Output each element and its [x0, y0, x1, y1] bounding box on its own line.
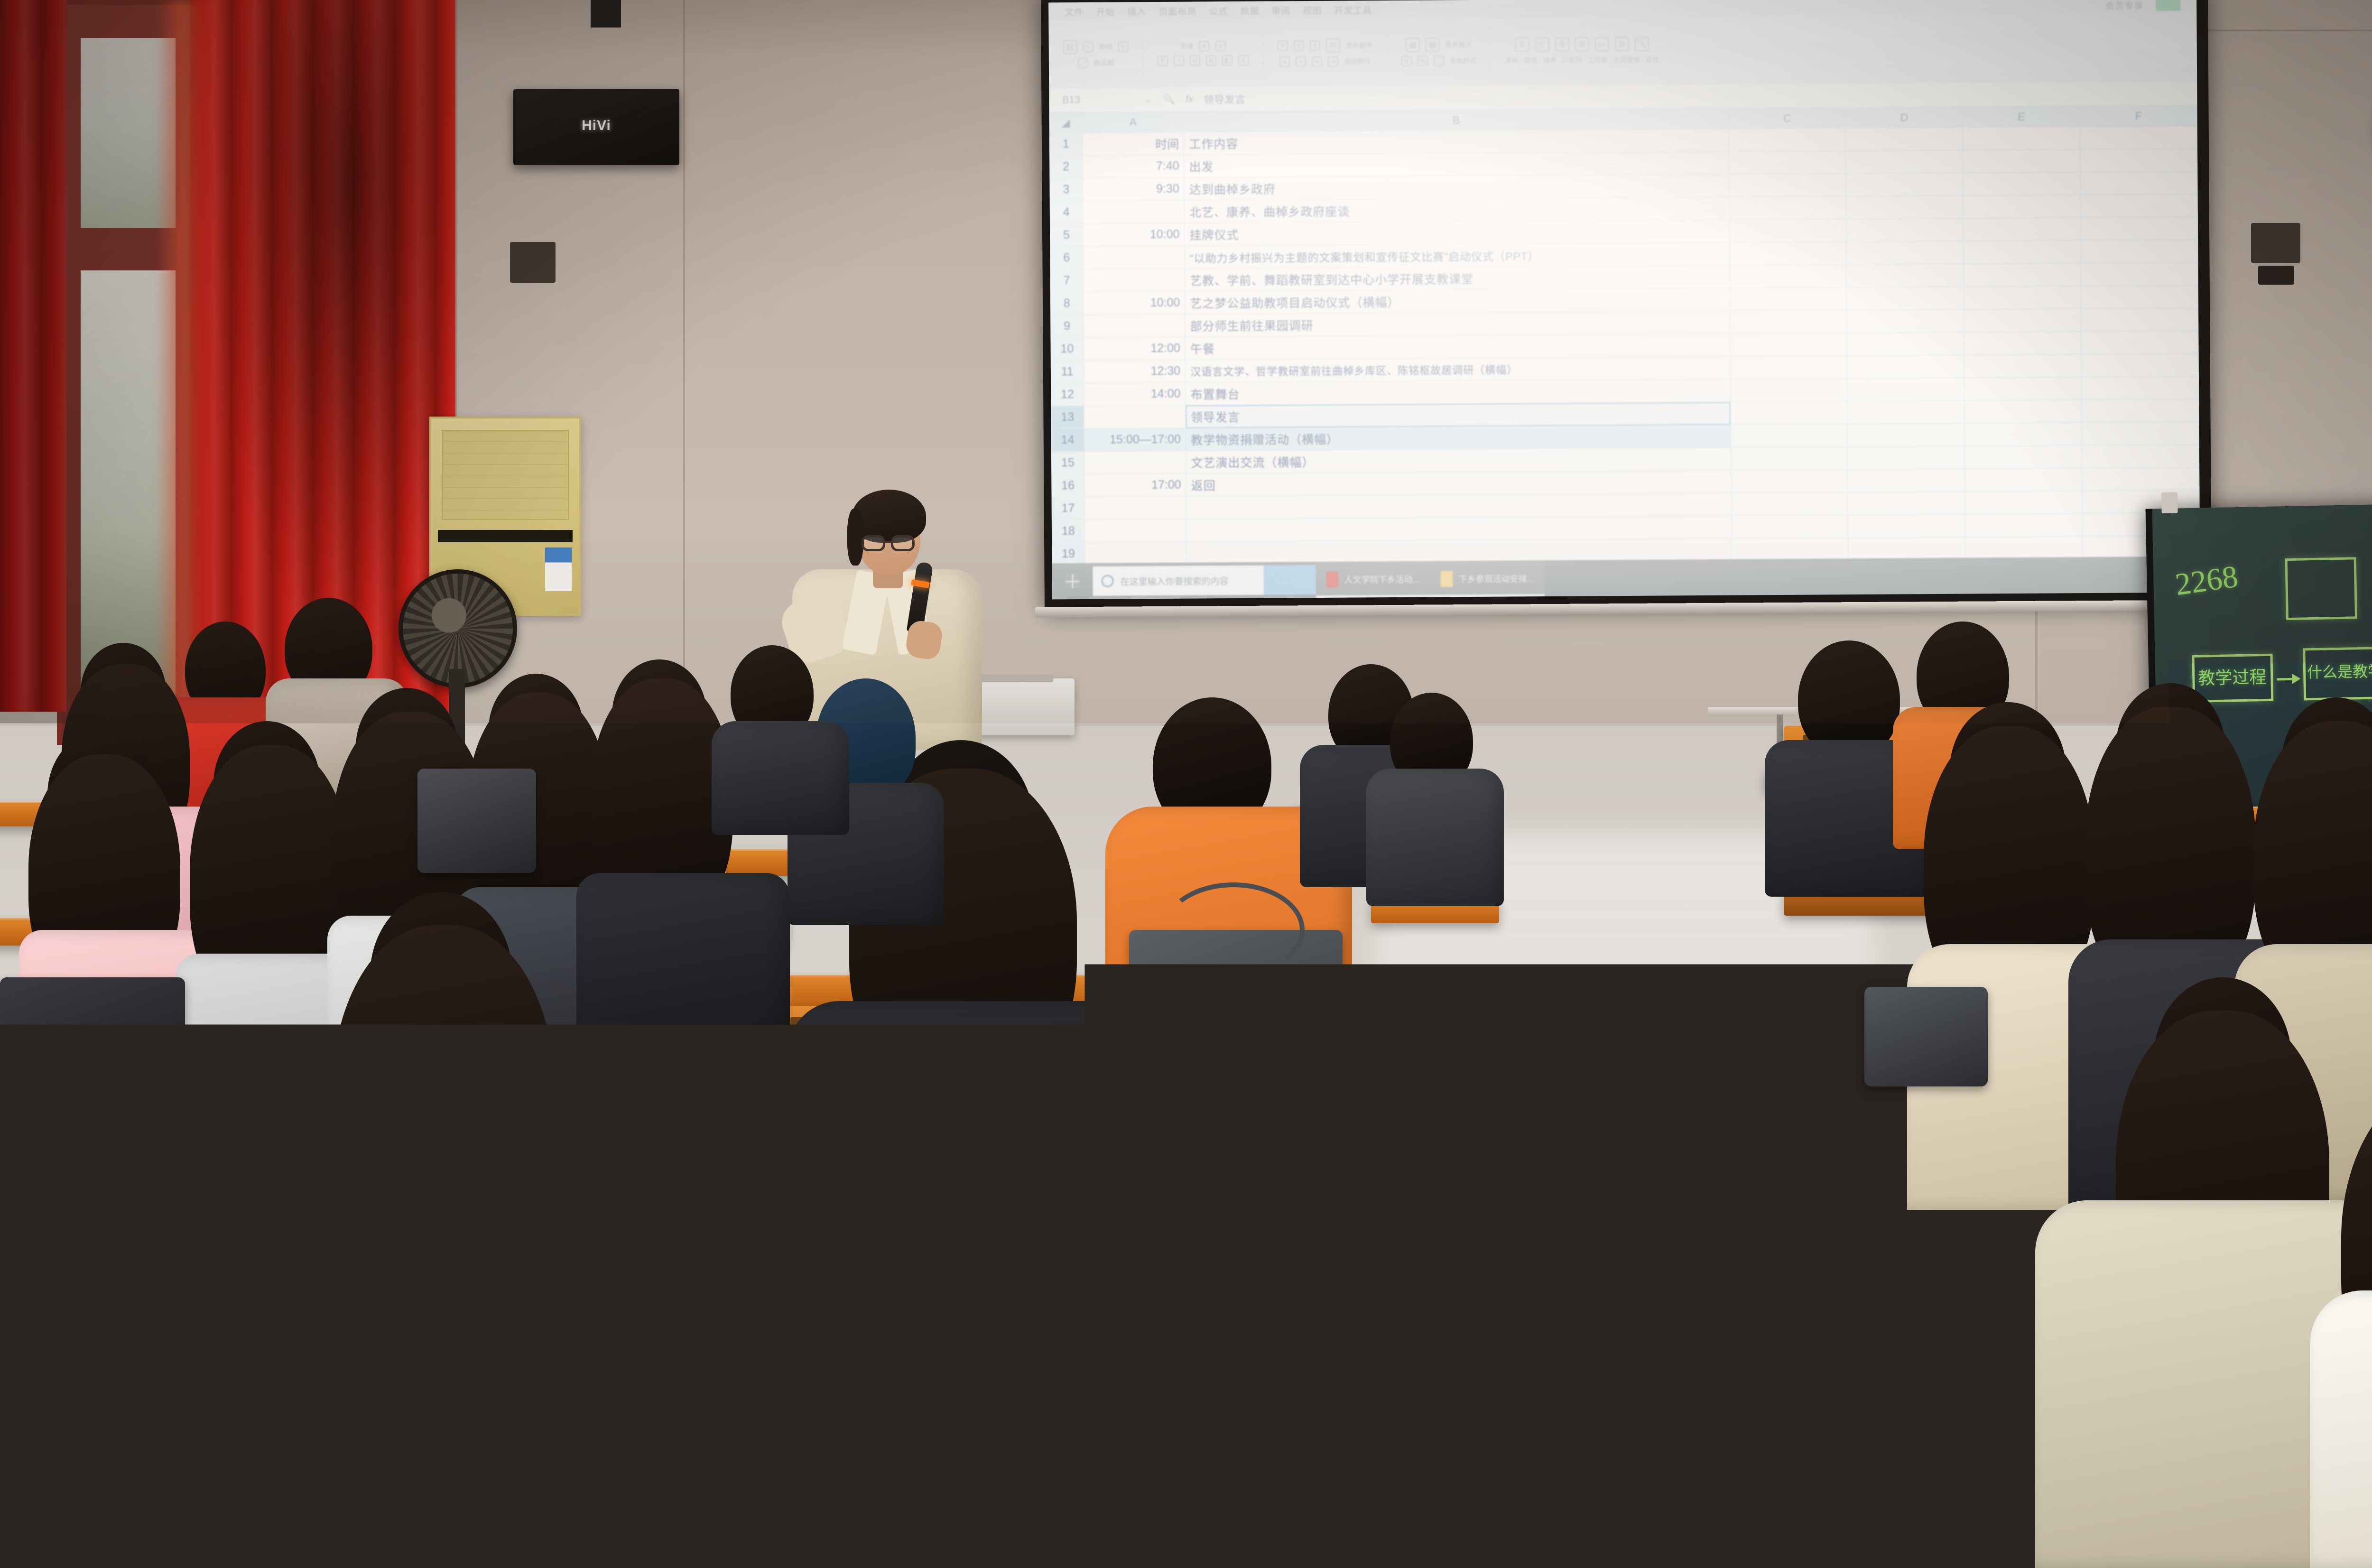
- cell-d[interactable]: [1846, 173, 1963, 196]
- ribbon-divider: [1262, 30, 1263, 75]
- cell-f[interactable]: [2082, 376, 2199, 400]
- cell-d[interactable]: [1846, 241, 1964, 265]
- italic-icon[interactable]: I: [1174, 55, 1184, 65]
- cell-e[interactable]: [1965, 445, 2082, 469]
- worksheet-icon[interactable]: ▭: [1595, 37, 1609, 51]
- chevron-down-icon[interactable]: ⌄: [1144, 93, 1152, 105]
- curtain-left: [0, 0, 66, 712]
- eyeglasses-icon: [891, 535, 915, 551]
- merge-center-icon[interactable]: ⊟: [1326, 38, 1340, 52]
- curtain-light-edge: [157, 0, 209, 731]
- find-label: 查找: [1646, 55, 1659, 64]
- cell-e[interactable]: [1964, 263, 2081, 287]
- cut-icon[interactable]: ✂: [1083, 41, 1093, 52]
- cell-f[interactable]: [2082, 399, 2199, 423]
- cell-d[interactable]: [1846, 218, 1964, 242]
- cell-c[interactable]: [1731, 492, 1848, 516]
- alignment-group[interactable]: ≡ ≡ ≡ ⊟ 合并居中 ≡ ≡ ≡ ⇥ 自动换行: [1278, 38, 1372, 67]
- cell-e[interactable]: [1965, 514, 2083, 538]
- font-color-icon[interactable]: A: [1238, 55, 1249, 65]
- cell-b[interactable]: 部分师生前往果园调研: [1185, 311, 1730, 337]
- ribbon-tab-view[interactable]: 视图: [1303, 3, 1322, 16]
- cell-c[interactable]: [1729, 242, 1846, 266]
- cell-c[interactable]: [1730, 310, 1847, 334]
- cell-a[interactable]: 时间: [1082, 132, 1184, 155]
- filter-icon[interactable]: ▽: [1535, 37, 1549, 51]
- fill-color-icon[interactable]: ◧: [1222, 55, 1232, 65]
- ribbon-divider: [1490, 28, 1491, 74]
- border-icon[interactable]: ⊞: [1206, 55, 1216, 65]
- cell-e[interactable]: [1964, 332, 2081, 355]
- taskbar-item-1[interactable]: 人文学院下乡活动...: [1316, 561, 1430, 598]
- cell-d[interactable]: [1848, 537, 1965, 561]
- cell-a[interactable]: [1084, 405, 1186, 428]
- cell-e[interactable]: [1965, 537, 2083, 560]
- cell-a[interactable]: 17:00: [1084, 473, 1186, 497]
- cell-f[interactable]: [2081, 308, 2198, 332]
- merge-center-label: 合并居中: [1346, 40, 1372, 50]
- sort-label: 排序: [1543, 55, 1557, 65]
- cell-a[interactable]: 10:00: [1083, 223, 1185, 246]
- wall-bracket: [2258, 266, 2294, 285]
- cell-b[interactable]: 出发: [1184, 151, 1729, 177]
- freeze-panes-label: 冻结窗格: [1613, 55, 1640, 64]
- row-header[interactable]: 10: [1051, 337, 1084, 360]
- cell-c[interactable]: [1731, 515, 1848, 539]
- floor-tile-line: [1423, 1034, 1841, 1036]
- cell-e[interactable]: [1963, 172, 2080, 196]
- cell-a[interactable]: [1083, 200, 1185, 223]
- floor-tile-line: [1376, 1376, 1893, 1377]
- cell-d[interactable]: [1848, 492, 1965, 515]
- cell-a[interactable]: [1084, 542, 1186, 565]
- row-header[interactable]: 14: [1051, 428, 1084, 451]
- fx-icon[interactable]: fx: [1186, 93, 1193, 105]
- row-header[interactable]: 18: [1052, 520, 1084, 542]
- chalk-arrow-icon: [2277, 678, 2298, 681]
- cell-e[interactable]: [1964, 286, 2081, 310]
- ribbon-divider: [1386, 29, 1387, 75]
- cell-b-selected[interactable]: 领导发言: [1186, 402, 1731, 428]
- wps-document-icon: [1326, 572, 1338, 588]
- name-box[interactable]: B13: [1062, 94, 1133, 106]
- row-header[interactable]: 17: [1052, 497, 1084, 520]
- align-bottom-icon[interactable]: ≡: [1310, 40, 1320, 50]
- speaker-brand-label: HiVi: [582, 118, 611, 134]
- row-header[interactable]: 8: [1050, 292, 1083, 315]
- worksheet-label: 工作表: [1588, 55, 1608, 65]
- column-header-a[interactable]: A: [1082, 112, 1184, 132]
- column-header-b[interactable]: B: [1184, 109, 1729, 132]
- row-header[interactable]: 6: [1050, 246, 1083, 269]
- cell-a[interactable]: [1084, 519, 1186, 542]
- cell-c[interactable]: [1730, 401, 1847, 425]
- cell-c[interactable]: [1731, 424, 1848, 448]
- autosum-icon[interactable]: Σ: [1515, 37, 1529, 52]
- cell-a[interactable]: 14:00: [1084, 382, 1186, 406]
- cell-d[interactable]: [1847, 378, 1964, 401]
- editing-group[interactable]: Σ ▽ ⇅ ⊞ ▭ ⊞ 🔍 求和 筛选 排序 行和列: [1505, 37, 1659, 65]
- cell-c[interactable]: [1730, 356, 1847, 380]
- cell-a[interactable]: [1084, 496, 1186, 520]
- cell-f[interactable]: [2081, 285, 2198, 309]
- chalk-box-diagram: [2285, 557, 2357, 620]
- cell-c[interactable]: [1731, 538, 1848, 562]
- select-all-corner[interactable]: ◢: [1049, 113, 1082, 133]
- conditional-format-label: 条件格式: [1445, 39, 1472, 49]
- cell-b[interactable]: 北艺、康养、曲棹乡政府座谈: [1185, 197, 1730, 223]
- cell-e[interactable]: [1964, 377, 2082, 401]
- cell-d[interactable]: [1846, 150, 1963, 174]
- cell-b[interactable]: 工作内容: [1184, 129, 1729, 155]
- cell-e[interactable]: [1963, 127, 2080, 150]
- ribbon-tab-review[interactable]: 审阅: [1271, 4, 1290, 17]
- eyeglasses-icon: [862, 535, 885, 551]
- column-header-c[interactable]: C: [1729, 108, 1846, 129]
- ribbon-spacer: [1384, 5, 2093, 9]
- cell-d[interactable]: [1847, 309, 1964, 333]
- row-header[interactable]: 13: [1051, 406, 1084, 428]
- conditional-format-icon[interactable]: ▩: [1426, 37, 1440, 52]
- spreadsheet-app[interactable]: 文件 开始 插入 页面布局 公式 数据 审阅 视图 开发工具 会员专享: [1048, 0, 2200, 599]
- ribbon-tab-formulas[interactable]: 公式: [1209, 4, 1228, 17]
- presenter-hair-side: [847, 509, 863, 566]
- cell-f[interactable]: [2081, 353, 2198, 377]
- projection-screen-bezel: 文件 开始 插入 页面布局 公式 数据 审阅 视图 开发工具 会员专享: [1041, 0, 2212, 613]
- cell-b[interactable]: “以助力乡村振兴为主题的文案策划和宣传征文比赛”启动仪式（PPT）: [1185, 242, 1730, 269]
- find-icon[interactable]: 🔍: [1635, 37, 1649, 51]
- cell-d[interactable]: [1847, 287, 1964, 310]
- wps-spreadsheet-icon: [1440, 571, 1453, 587]
- number-group[interactable]: ▦ ▩ 条件格式 ¥ % , 表格样式: [1401, 37, 1476, 66]
- cell-d[interactable]: [1848, 423, 1965, 447]
- chalk-note-process: 教学过程: [2198, 663, 2267, 689]
- cell-a[interactable]: 7:40: [1082, 155, 1184, 178]
- cell-e[interactable]: [1965, 468, 2082, 492]
- column-header-f[interactable]: F: [2080, 106, 2197, 127]
- formula-input[interactable]: 领导发言: [1204, 92, 1245, 106]
- cell-c[interactable]: [1729, 196, 1846, 220]
- search-placeholder-text: 在这里输入你要搜索的内容: [1121, 574, 1229, 587]
- row-header[interactable]: 11: [1051, 360, 1084, 383]
- desk-leg: [1248, 1449, 1260, 1568]
- desk-leg: [38, 1421, 49, 1568]
- wrap-text-label: 自动换行: [1344, 56, 1371, 66]
- insert-function-search-icon[interactable]: 🔍: [1163, 93, 1175, 105]
- cell-b[interactable]: 教学物资捐赠活动（横幅）: [1186, 425, 1731, 451]
- taskbar-item-label: 人文学院下乡活动...: [1344, 573, 1419, 586]
- row-header[interactable]: 2: [1050, 155, 1083, 178]
- cabinet-sticker: [545, 547, 572, 591]
- rows-columns-icon[interactable]: ⊞: [1575, 37, 1589, 51]
- cell-b[interactable]: 文艺演出交流（横幅）: [1186, 447, 1731, 473]
- chalk-note-question: 什么是教学过程: [2307, 659, 2372, 682]
- column-header-e[interactable]: E: [1963, 107, 2080, 128]
- rows-columns-label: 行和列: [1562, 55, 1582, 65]
- table-style-label: 表格样式: [1450, 56, 1476, 65]
- start-button[interactable]: [1052, 563, 1093, 600]
- cell-b[interactable]: 汉语言文学、哲学教研室前往曲棹乡库区、陈铭枢故居调研（横幅）: [1186, 356, 1731, 382]
- cell-e[interactable]: [1964, 354, 2081, 378]
- wall-bracket: [2251, 223, 2300, 263]
- cell-b[interactable]: [1186, 516, 1732, 542]
- row-header[interactable]: 5: [1050, 223, 1083, 246]
- row-header[interactable]: 3: [1050, 178, 1083, 201]
- cell-f[interactable]: [2082, 422, 2199, 445]
- cell-e[interactable]: [1964, 400, 2082, 424]
- spreadsheet-grid[interactable]: ◢ A B C D E F 1时间工作内容 27:40出发: [1049, 106, 2200, 589]
- cell-e[interactable]: [1964, 218, 2081, 241]
- cell-b[interactable]: [1186, 493, 1731, 519]
- cell-d[interactable]: [1846, 264, 1964, 288]
- cell-c[interactable]: [1729, 219, 1846, 243]
- column-header-d[interactable]: D: [1845, 107, 1963, 128]
- cell-c[interactable]: [1730, 265, 1847, 288]
- cell-d[interactable]: [1847, 355, 1964, 379]
- underline-icon[interactable]: U: [1190, 55, 1200, 65]
- align-center-icon[interactable]: ≡: [1296, 56, 1306, 67]
- clipboard-group[interactable]: ▤ ✂ 剪切 ⧉ 🖌 格式刷: [1063, 39, 1129, 68]
- bag: [1945, 1234, 2087, 1343]
- bold-icon[interactable]: B: [1158, 55, 1168, 65]
- hivi-speaker-left: HiVi: [513, 89, 679, 165]
- number-format-icon[interactable]: ▦: [1406, 37, 1420, 52]
- row-header[interactable]: 4: [1050, 201, 1083, 223]
- windows-taskbar[interactable]: 在这里输入你要搜索的内容 人文学院下乡活动... 下乡参观活动安排...: [1052, 557, 2200, 600]
- taskbar-item-label: 下乡参观活动安排...: [1459, 572, 1534, 585]
- cell-d[interactable]: [1848, 446, 1965, 470]
- cell-b[interactable]: 达到曲棹乡政府: [1184, 174, 1729, 200]
- row-header[interactable]: 16: [1052, 474, 1084, 497]
- cell-a[interactable]: [1084, 451, 1186, 474]
- floor-tile-line: [1404, 1196, 1869, 1197]
- ribbon-divider: [1143, 31, 1144, 76]
- cell-b[interactable]: 艺教、学前、舞蹈教研室到达中心小学开展支教课堂: [1185, 265, 1730, 291]
- filter-label: 筛选: [1524, 56, 1538, 65]
- cortana-button[interactable]: [1263, 565, 1316, 595]
- row-header[interactable]: 1: [1049, 133, 1082, 156]
- ribbon-tab-home[interactable]: 开始: [1096, 5, 1115, 18]
- ribbon-tab-file[interactable]: 文件: [1065, 5, 1084, 18]
- cell-c[interactable]: [1729, 174, 1846, 197]
- cell-f[interactable]: [2081, 331, 2198, 354]
- cell-c[interactable]: [1729, 128, 1846, 152]
- cell-b[interactable]: 布置舞台: [1186, 379, 1731, 405]
- cell-f[interactable]: [2081, 217, 2198, 241]
- cell-c[interactable]: [1730, 288, 1847, 311]
- ribbon-tab-data[interactable]: 数据: [1240, 4, 1259, 17]
- cell-f[interactable]: [2082, 445, 2199, 468]
- windows-logo-icon: [1065, 574, 1079, 588]
- ribbon-tab-insert[interactable]: 插入: [1127, 5, 1146, 18]
- row-header[interactable]: 9: [1051, 315, 1084, 337]
- cell-a[interactable]: [1083, 246, 1185, 269]
- wall-seam: [683, 0, 685, 707]
- cell-f[interactable]: [2080, 171, 2197, 195]
- search-icon: [1102, 575, 1114, 587]
- cut-label: 剪切: [1099, 42, 1112, 51]
- projection-screen[interactable]: 文件 开始 插入 页面布局 公式 数据 审阅 视图 开发工具 会员专享: [1048, 0, 2200, 599]
- currency-icon[interactable]: ¥: [1401, 56, 1412, 66]
- cell-f[interactable]: [2080, 194, 2197, 218]
- cell-a[interactable]: 10:00: [1083, 291, 1185, 315]
- cell-e[interactable]: [1963, 149, 2080, 173]
- cell-a[interactable]: 12:00: [1084, 337, 1186, 360]
- cell-a[interactable]: [1083, 314, 1185, 337]
- taskbar-item-2[interactable]: 下乡参观活动安排...: [1430, 560, 1544, 597]
- cell-a[interactable]: [1083, 269, 1185, 292]
- wall-bracket: [510, 242, 556, 283]
- copy-icon[interactable]: ⧉: [1118, 41, 1129, 52]
- ribbon-tab-page-layout[interactable]: 页面布局: [1158, 4, 1196, 17]
- cell-d[interactable]: [1848, 514, 1965, 538]
- row-header[interactable]: 7: [1050, 269, 1083, 292]
- cell-d[interactable]: [1847, 400, 1964, 424]
- cell-b[interactable]: 返回: [1186, 470, 1731, 496]
- indent-icon[interactable]: ⇥: [1328, 56, 1338, 66]
- freeze-panes-icon[interactable]: ⊞: [1615, 37, 1629, 51]
- cell-d[interactable]: [1846, 195, 1964, 219]
- cell-c[interactable]: [1729, 151, 1846, 175]
- bag: [1864, 987, 1988, 1086]
- ribbon-tab-member[interactable]: 会员专享: [2105, 0, 2143, 11]
- row-header[interactable]: 15: [1051, 451, 1084, 474]
- cabinet-slot: [438, 530, 573, 542]
- cell-c[interactable]: [1730, 333, 1847, 357]
- cell-b[interactable]: 午餐: [1185, 334, 1730, 360]
- align-right-icon[interactable]: ≡: [1312, 56, 1322, 66]
- floor-reflection: [1376, 835, 1874, 1568]
- chalk-note-number: 2268: [2173, 558, 2240, 603]
- cell-d[interactable]: [1848, 469, 1965, 492]
- cell-e[interactable]: [1964, 423, 2082, 446]
- row-header[interactable]: 19: [1052, 542, 1085, 565]
- taskbar-search-input[interactable]: 在这里输入你要搜索的内容: [1093, 566, 1263, 596]
- board-clip: [2161, 492, 2178, 513]
- cell-c[interactable]: [1731, 447, 1848, 471]
- cell-a[interactable]: 15:00—17:00: [1084, 428, 1186, 451]
- autosum-label: 求和: [1505, 56, 1519, 65]
- align-top-icon[interactable]: ≡: [1278, 40, 1288, 51]
- format-painter-icon[interactable]: 🖌: [1078, 57, 1088, 68]
- font-group[interactable]: 字体 A a B I U ⊞ ◧ A: [1158, 40, 1249, 65]
- cell-a[interactable]: 12:30: [1084, 360, 1186, 383]
- share-button[interactable]: [2156, 0, 2180, 11]
- cell-f[interactable]: [2081, 240, 2198, 263]
- bag: [417, 769, 536, 873]
- bag: [0, 977, 185, 1110]
- cell-b[interactable]: 挂牌仪式: [1185, 220, 1730, 246]
- classroom-photo: HiVi HiVi 12 1 2 3 4 5 6 7 8 9 10 11: [0, 0, 2372, 1568]
- cell-e[interactable]: [1964, 309, 2081, 333]
- grid-body[interactable]: 1时间工作内容 27:40出发 39:30达到曲棹乡政府 4北艺、康养、曲棹乡政…: [1049, 126, 2200, 588]
- cell-d[interactable]: [1847, 332, 1964, 356]
- percent-icon[interactable]: %: [1418, 56, 1428, 66]
- align-left-icon[interactable]: ≡: [1279, 56, 1290, 67]
- cell-c[interactable]: [1730, 379, 1847, 402]
- sort-icon[interactable]: ⇅: [1555, 37, 1569, 51]
- cell-e[interactable]: [1964, 241, 2081, 264]
- font-grow-icon[interactable]: A: [1199, 41, 1210, 51]
- eyeglasses-bridge: [885, 541, 892, 543]
- cell-c[interactable]: [1731, 470, 1848, 493]
- ribbon-tab-developer[interactable]: 开发工具: [1334, 3, 1372, 16]
- font-name-label: 字体: [1180, 41, 1194, 51]
- row-header[interactable]: 12: [1051, 383, 1084, 406]
- cell-f[interactable]: [2080, 126, 2197, 149]
- format-painter-label: 格式刷: [1094, 58, 1114, 67]
- cell-f[interactable]: [2080, 148, 2197, 172]
- cell-e[interactable]: [1965, 491, 2082, 515]
- cell-d[interactable]: [1846, 127, 1963, 151]
- ribbon-toolbar[interactable]: ▤ ✂ 剪切 ⧉ 🖌 格式刷 字体: [1048, 14, 2197, 88]
- speaker-bracket: [591, 0, 621, 28]
- paste-icon[interactable]: ▤: [1063, 40, 1077, 54]
- backpack-strap: [1162, 882, 1305, 977]
- cell-f[interactable]: [2081, 262, 2198, 286]
- cell-b[interactable]: 艺之梦公益助教项目启动仪式（横幅）: [1185, 288, 1730, 314]
- font-shrink-icon[interactable]: a: [1215, 41, 1226, 51]
- cell-f[interactable]: [2082, 467, 2199, 491]
- comma-icon[interactable]: ,: [1434, 56, 1444, 66]
- cabinet-vent: [442, 430, 569, 520]
- align-middle-icon[interactable]: ≡: [1294, 40, 1304, 51]
- cell-a[interactable]: 9:30: [1083, 177, 1185, 201]
- cell-e[interactable]: [1963, 195, 2080, 219]
